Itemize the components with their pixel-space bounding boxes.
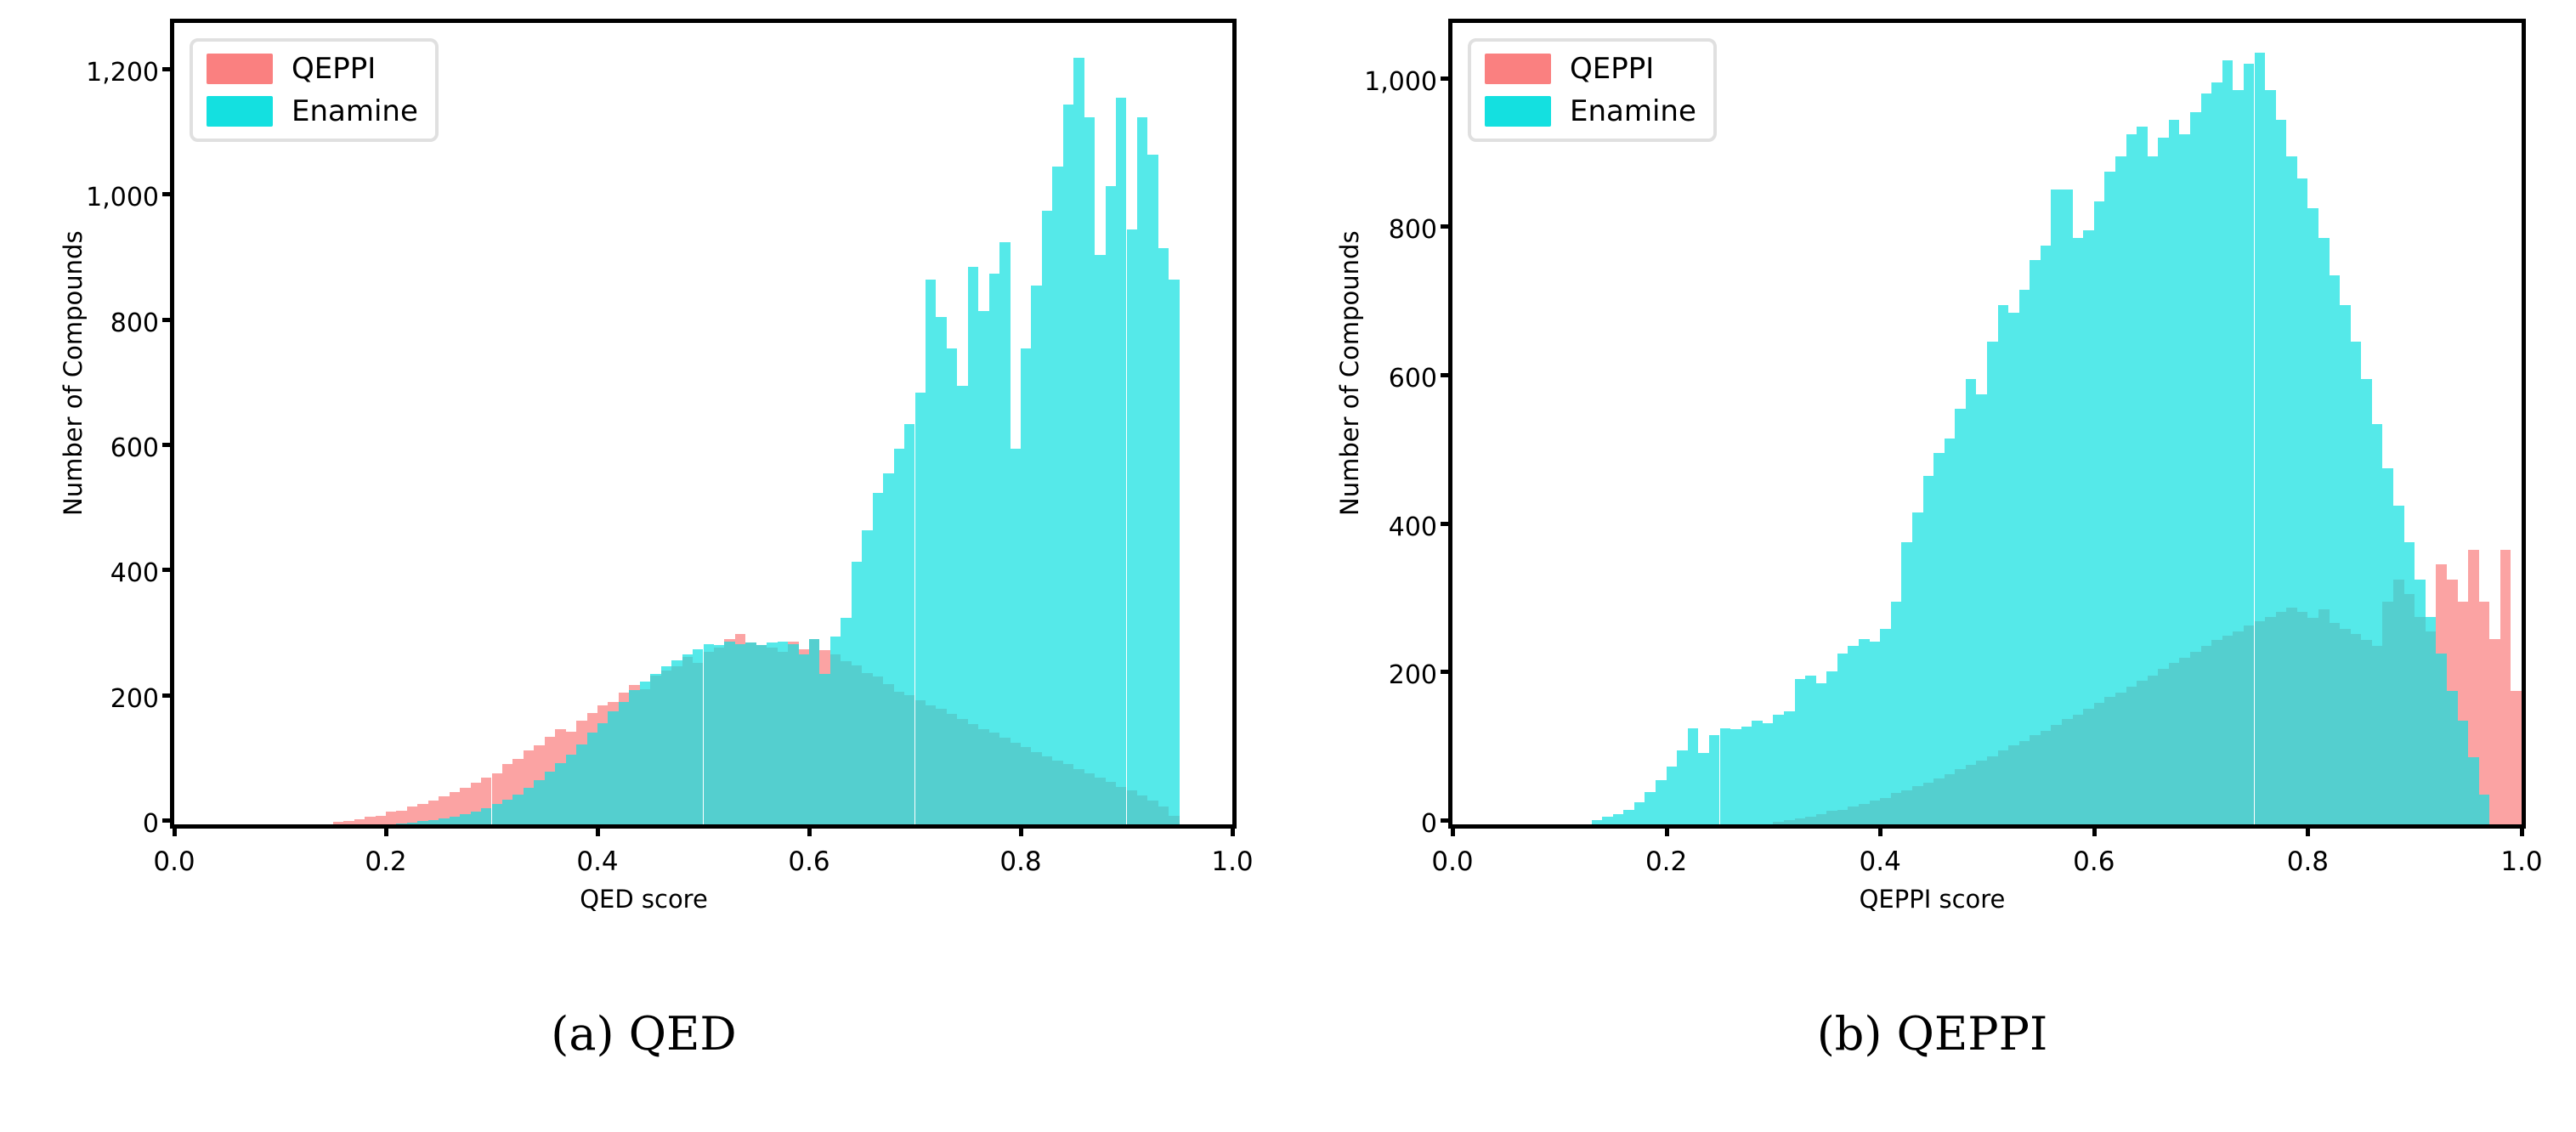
legend-swatch-enamine-icon [1485,96,1551,127]
histogram-bar [2276,120,2287,824]
histogram-bar [1084,117,1095,824]
x-tick-label: 0.4 [576,846,618,877]
histogram-bar [704,644,714,824]
histogram-bar [1052,167,1062,824]
legend-qed[interactable]: QEPPI Enamine [190,38,439,142]
figure-root: 02004006008001,0001,200 0.00.20.40.60.81… [0,0,2576,1132]
histogram-bar [1859,639,1870,824]
histogram-bar [1634,802,1645,824]
histogram-bar [1923,476,1934,824]
histogram-bar [1073,58,1084,824]
histogram-bar [714,645,724,824]
histogram-bar [1880,629,1891,825]
x-tick-label: 0.6 [788,846,829,877]
histogram-bar [2190,112,2201,824]
histogram-bar [1933,453,1945,824]
histogram-bars-qeppi [1452,23,2522,824]
histogram-bar [2382,468,2393,824]
histogram-bar [915,393,926,824]
legend-swatch-enamine-icon [207,96,273,127]
histogram-bar [2489,639,2500,824]
histogram-bar [862,530,872,824]
histogram-bar [2222,60,2233,824]
axes-qeppi: 02004006008001,000 0.00.20.40.60.81.0 QE… [1448,19,2526,829]
histogram-bar [439,818,449,824]
x-tick-mark [2306,824,2310,836]
histogram-bar [2255,53,2266,824]
histogram-bar [682,654,693,824]
histogram-bar [661,666,671,824]
histogram-bar [799,654,809,824]
histogram-bar [502,800,512,824]
histogram-bar [809,639,819,824]
histogram-bar [354,819,365,824]
histogram-bar [1805,676,1816,824]
histogram-bar [1645,792,1656,824]
x-tick-mark [1231,824,1235,836]
panel-qed: 02004006008001,0001,200 0.00.20.40.60.81… [0,0,1288,1132]
y-tick-mark [162,318,174,322]
x-tick-label: 0.6 [2073,846,2115,877]
y-tick-mark [1441,522,1452,526]
histogram-bar [1709,735,1720,824]
histogram-bar [2008,313,2019,824]
histogram-bar [1773,715,1784,824]
y-tick-mark [162,443,174,447]
histogram-bar [1623,810,1634,824]
histogram-bar [1784,711,1795,824]
histogram-bar [555,763,565,824]
histogram-bar [936,317,946,824]
plot-area-qeppi [1452,23,2522,824]
y-axis-label-qeppi: Number of Compounds [1335,261,1364,516]
y-tick-mark [162,693,174,698]
x-axis-label-qed: QED score [0,885,1288,914]
histogram-bar [767,642,777,824]
histogram-bar [2351,342,2362,824]
histogram-bar [1137,117,1147,824]
histogram-bar [2137,127,2148,824]
histogram-bar [978,311,988,824]
legend-label-qeppi: QEPPI [1570,54,1654,83]
histogram-bar [1826,671,1837,824]
legend-label-qeppi: QEPPI [292,54,376,83]
histogram-bar [735,644,745,824]
histogram-bar [1116,98,1126,824]
x-tick-label: 1.0 [1211,846,1253,877]
histogram-bar [1677,750,1688,824]
histogram-bar [1891,602,1902,824]
histogram-bar [2468,757,2479,824]
legend-item-enamine[interactable]: Enamine [1485,96,1696,127]
histogram-bar [2500,550,2511,824]
histogram-bar [745,642,756,824]
histogram-bar [1870,642,1881,824]
histogram-bar [1613,814,1624,824]
legend-label-enamine: Enamine [1570,97,1696,126]
legend-item-qeppi[interactable]: QEPPI [207,54,418,84]
histogram-bar [2201,93,2212,824]
histogram-bar [619,702,629,824]
histogram-bar [2041,246,2052,824]
histogram-bar [640,682,650,824]
y-tick-mark [1441,670,1452,674]
histogram-bar [778,642,788,824]
y-tick-mark [162,67,174,71]
histogram-bar [1730,729,1741,824]
histogram-bar [2404,542,2415,824]
x-tick-mark [1451,824,1455,836]
legend-item-enamine[interactable]: Enamine [207,96,418,127]
histogram-bar [545,772,555,824]
histogram-bar [428,820,439,824]
histogram-bar [1816,683,1827,824]
histogram-bar [2062,190,2073,824]
histogram-bar [1688,728,1699,825]
histogram-bar [957,386,967,824]
histogram-bar [830,637,841,824]
histogram-bar [2115,156,2126,824]
histogram-bar [1955,409,1966,824]
x-tick-mark [596,824,600,836]
histogram-bar [1031,286,1041,824]
histogram-bar [481,808,491,824]
histogram-bar [1063,105,1073,824]
histogram-bar [1042,211,1052,824]
x-tick-label: 0.8 [2287,846,2329,877]
histogram-bar [1656,780,1667,824]
histogram-bar [365,817,375,824]
histogram-bar [2094,201,2105,824]
legend-label-enamine: Enamine [292,97,418,126]
y-axis-label-qed: Number of Compounds [59,261,88,516]
histogram-bar [2083,230,2094,824]
histogram-bar [947,348,957,824]
histogram-bar [460,814,470,824]
y-tick-mark [162,192,174,196]
histogram-bar [2318,238,2330,824]
histogram-bar [2436,654,2447,824]
histogram-bar [2233,90,2244,824]
histogram-bar [2479,795,2490,824]
x-tick-label: 0.0 [153,846,195,877]
histogram-bar [1021,348,1031,824]
histogram-bar [841,618,851,824]
histogram-bar [2179,134,2190,824]
x-tick-label: 0.2 [365,846,406,877]
legend-qeppi[interactable]: QEPPI Enamine [1468,38,1717,142]
histogram-bar [396,824,406,824]
histogram-bar [693,649,703,824]
histogram-bar [566,755,576,825]
histogram-bar [1901,542,1912,824]
histogram-bar [2030,260,2041,824]
histogram-bar [450,817,460,824]
histogram-bar [2479,602,2490,824]
histogram-bar [1795,679,1806,824]
x-tick-mark [1665,824,1669,836]
histogram-bar [1158,248,1169,824]
y-tick-mark [162,818,174,823]
x-tick-mark [2092,824,2097,836]
histogram-bar [407,823,417,824]
histogram-bar [524,788,534,824]
histogram-bar [343,821,354,824]
histogram-bar [2415,580,2426,824]
histogram-bar [386,812,396,824]
histogram-bar [417,821,427,824]
panel-qeppi: 02004006008001,000 0.00.20.40.60.81.0 QE… [1288,0,2576,1132]
histogram-bar [1169,280,1179,824]
histogram-bar [629,690,639,824]
histogram-bar [2148,156,2159,824]
histogram-bar [1987,342,1998,824]
histogram-bar [883,473,893,824]
histogram-bar [671,660,682,824]
histogram-bar [2340,305,2351,824]
histogram-bar [2158,138,2169,824]
histogram-bar [1720,728,1731,825]
histogram-bar [1945,439,1956,824]
histogram-bar [1602,817,1613,824]
x-tick-label: 0.8 [999,846,1041,877]
histogram-bar [999,242,1010,824]
histogram-bar [894,449,904,824]
histogram-bar [724,642,734,824]
panel-caption-qed: (a) QED [0,1007,1288,1061]
histogram-bar [650,674,660,824]
histogram-bar [2511,691,2522,824]
histogram-bar [2297,178,2308,824]
histogram-bar [512,795,523,824]
x-tick-mark [1019,824,1023,836]
histogram-bar [852,562,862,824]
histogram-bar [1106,186,1116,824]
histogram-bar [2104,172,2115,824]
histogram-bar [1752,721,1763,824]
histogram-bar [2330,275,2341,824]
y-tick-mark [162,568,174,572]
x-tick-label: 0.4 [1860,846,1901,877]
histogram-bar [608,711,618,824]
histogram-bar [2051,190,2062,824]
histogram-bar [2126,134,2137,824]
legend-swatch-qeppi-icon [207,54,273,84]
histogram-bar [2307,208,2318,824]
histogram-bar [1011,449,1021,824]
histogram-bar [1837,654,1848,824]
histogram-bar [2372,424,2383,825]
histogram-bar [492,804,502,824]
histogram-bar [471,812,481,824]
axes-qed: 02004006008001,0001,200 0.00.20.40.60.81… [170,19,1237,829]
y-tick-mark [1441,818,1452,823]
histogram-bar [926,280,936,824]
histogram-bar [1976,394,1987,824]
histogram-bar [2458,721,2469,824]
histogram-bar [1095,255,1105,824]
legend-item-qeppi[interactable]: QEPPI [1485,54,1696,84]
histogram-bar [819,674,829,824]
y-tick-mark [1441,224,1452,229]
histogram-bar [1147,155,1158,824]
histogram-bar [597,723,608,824]
histogram-bar [756,645,767,824]
histogram-bar [2073,238,2084,824]
histogram-bar [1763,723,1774,824]
panel-caption-qeppi: (b) QEPPI [1288,1007,2576,1061]
y-tick-mark [1441,373,1452,377]
histogram-bar [2361,379,2372,824]
histogram-bar [1848,646,1859,824]
histogram-bar [333,822,343,824]
histogram-bar [968,267,978,824]
histogram-bar [1592,820,1603,824]
x-axis-label-qeppi: QEPPI score [1288,885,2576,914]
histogram-bar [2393,506,2404,824]
x-tick-mark [1878,824,1882,836]
legend-swatch-qeppi-icon [1485,54,1551,84]
plot-area-qed [174,23,1232,824]
x-tick-mark [2520,824,2524,836]
x-tick-mark [173,824,177,836]
histogram-bar [2286,156,2297,824]
histogram-bar [1741,727,1752,824]
x-tick-label: 1.0 [2500,846,2542,877]
histogram-bar [1667,767,1678,824]
histogram-bar [1698,753,1709,824]
histogram-bar [2211,82,2222,824]
x-tick-mark [384,824,388,836]
histogram-bar [788,644,798,824]
histogram-bar [1998,305,2009,824]
histogram-bar [576,744,586,824]
histogram-bar [904,424,914,825]
histogram-bar [1912,512,1923,824]
x-tick-label: 0.0 [1431,846,1473,877]
x-tick-mark [807,824,812,836]
histogram-bar [2426,617,2437,824]
histogram-bar [1966,379,1977,824]
histogram-bar [587,733,597,824]
histogram-bar [1127,229,1137,824]
histogram-bar [2244,64,2255,824]
histogram-bar [534,780,544,824]
histogram-bars-qed [174,23,1232,824]
histogram-bar [989,274,999,824]
y-tick-mark [1441,76,1452,81]
histogram-bar [2019,290,2030,824]
histogram-bar [376,816,386,824]
histogram-bar [873,493,883,824]
x-tick-label: 0.2 [1645,846,1687,877]
histogram-bar [2265,90,2276,824]
histogram-bar [2447,691,2458,824]
histogram-bar [2169,120,2180,824]
